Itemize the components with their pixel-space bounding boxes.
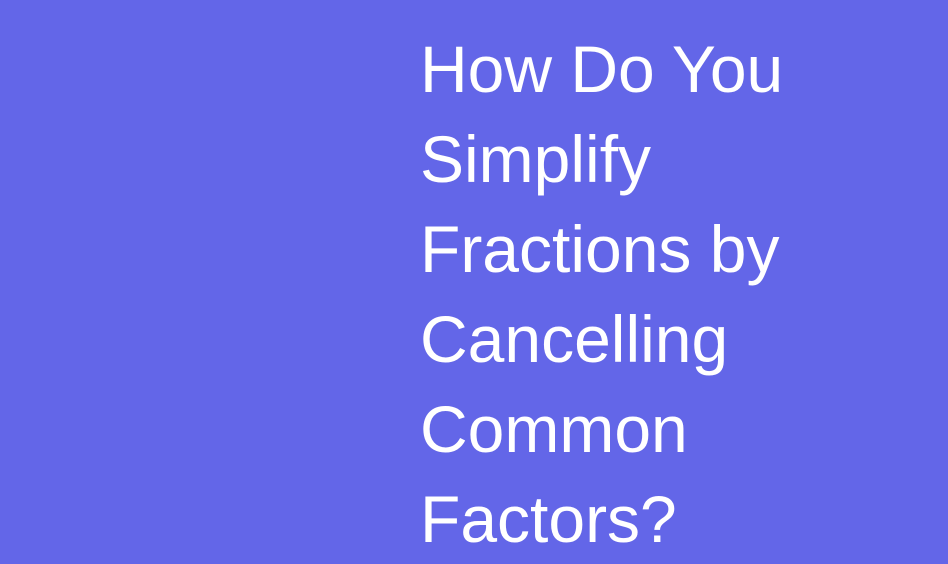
page-title: How Do You Simplify Fractions by Cancell… (420, 24, 932, 564)
title-block: How Do You Simplify Fractions by Cancell… (420, 24, 932, 564)
title-card: How Do You Simplify Fractions by Cancell… (0, 0, 948, 534)
